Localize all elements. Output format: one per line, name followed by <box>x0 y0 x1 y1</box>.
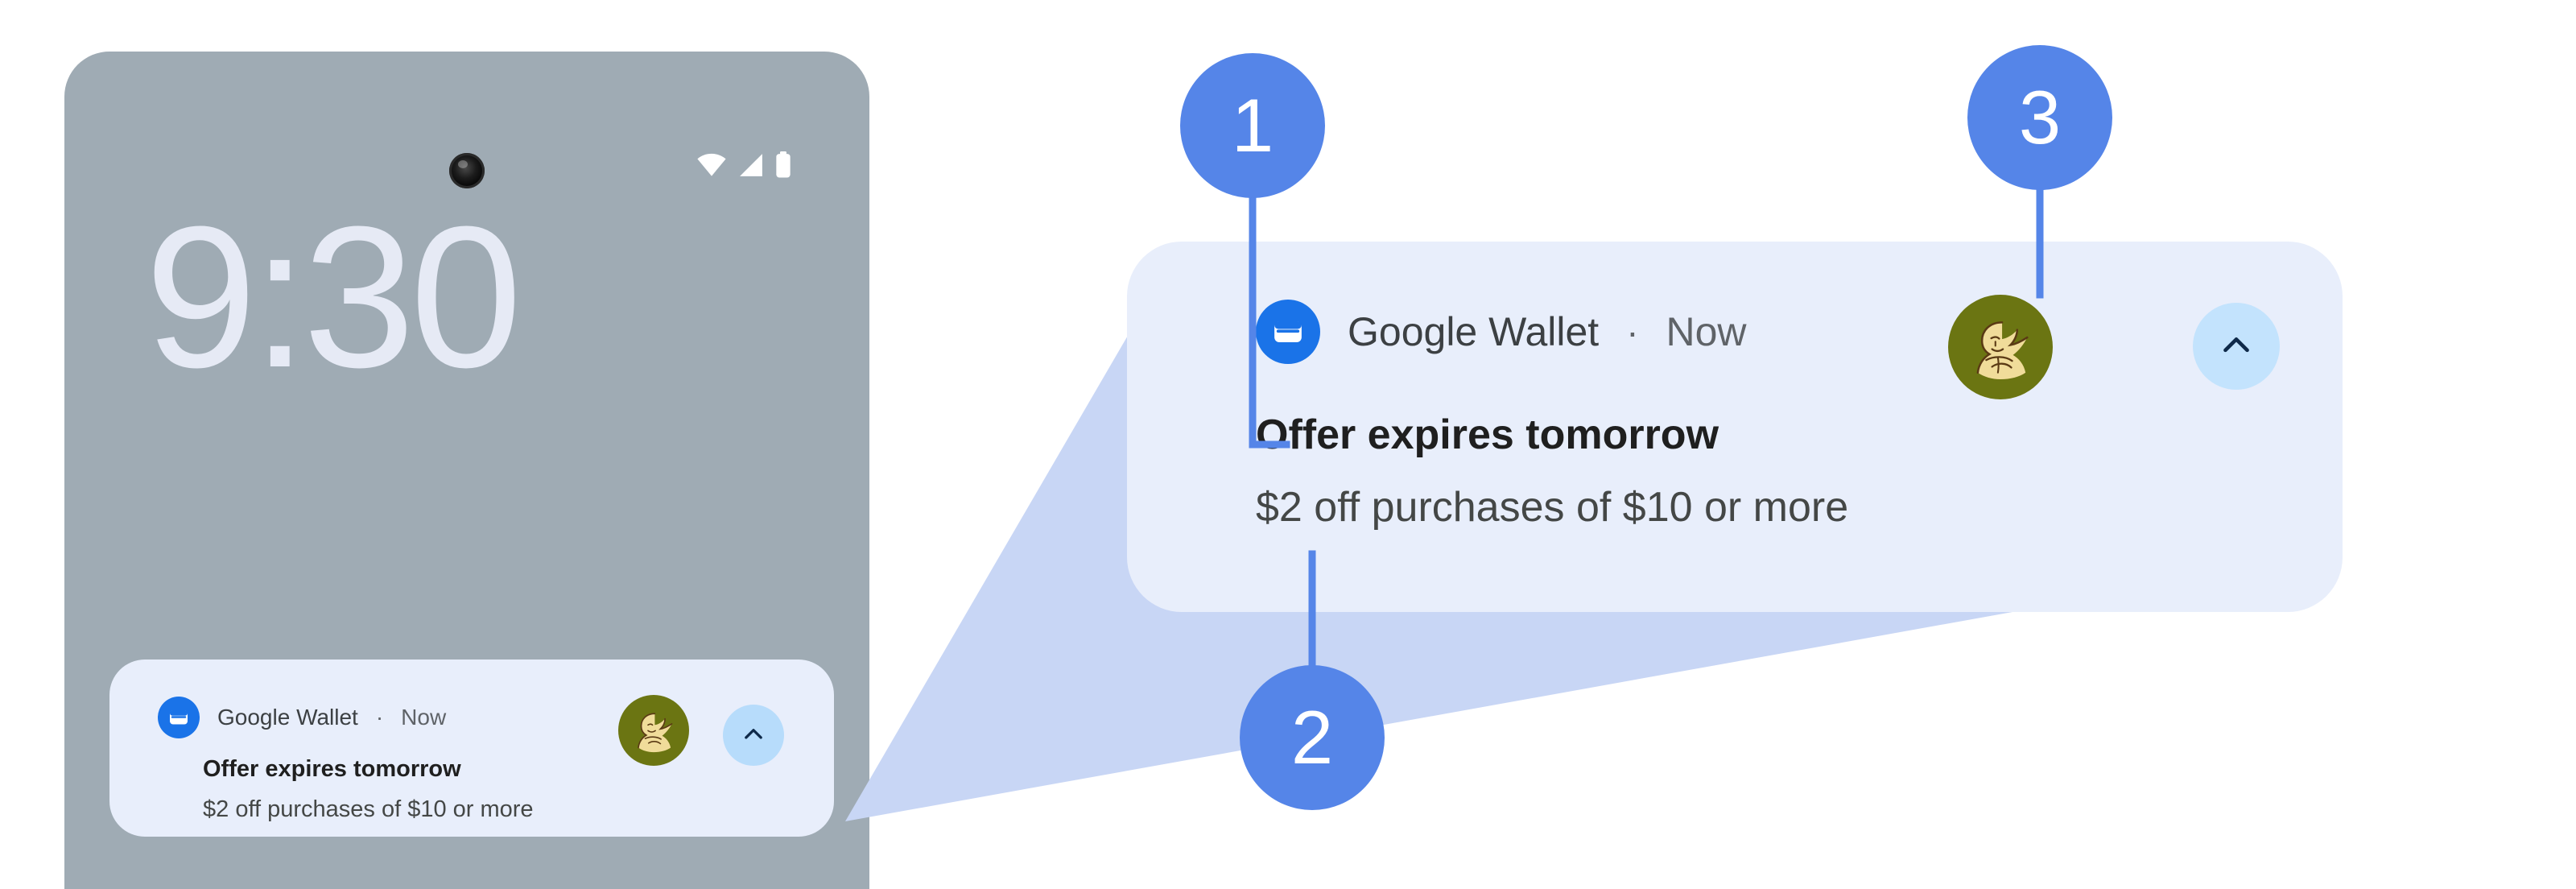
notification-card-magnified[interactable]: Google Wallet · Now Offer expires tomorr… <box>1127 242 2343 612</box>
merchant-avatar <box>1948 295 2053 403</box>
notification-card-small[interactable]: Google Wallet · Now Offer expires tomorr… <box>109 660 834 837</box>
chevron-up-icon <box>2216 325 2256 369</box>
notification-separator: · <box>376 705 383 730</box>
status-bar-icons <box>696 151 792 179</box>
camera-glint <box>458 160 468 168</box>
wifi-icon <box>696 152 728 178</box>
notification-app-name: Google Wallet <box>217 705 358 730</box>
google-wallet-icon <box>1256 300 1320 364</box>
expand-notification-button[interactable] <box>723 705 784 766</box>
callout-marker-1[interactable]: 1 <box>1180 53 1325 198</box>
phone-mockup: 9:30 Google Wallet · Now Offer expires t… <box>64 52 869 889</box>
google-wallet-icon <box>158 697 200 738</box>
callout-marker-2[interactable]: 2 <box>1240 665 1385 810</box>
front-camera-icon <box>449 153 485 188</box>
notification-app-name: Google Wallet <box>1348 308 1599 355</box>
callout-marker-2-label: 2 <box>1291 694 1333 781</box>
merchant-avatar <box>618 695 689 770</box>
battery-icon <box>774 151 792 179</box>
notification-body: $2 off purchases of $10 or more <box>1256 483 1848 531</box>
callout-marker-1-label: 1 <box>1232 82 1274 169</box>
notification-title: Offer expires tomorrow <box>1256 411 1719 459</box>
cellular-signal-icon <box>737 152 765 178</box>
notification-header-small: Google Wallet · Now <box>158 697 446 738</box>
chevron-up-icon <box>740 720 767 751</box>
notification-timestamp: Now <box>401 705 446 730</box>
expand-notification-button[interactable] <box>2193 303 2280 390</box>
callout-marker-3-label: 3 <box>2019 74 2061 161</box>
callout-marker-3[interactable]: 3 <box>1967 45 2112 190</box>
lock-screen-clock: 9:30 <box>145 196 518 398</box>
notification-body: $2 off purchases of $10 or more <box>203 796 534 823</box>
notification-title: Offer expires tomorrow <box>203 756 461 783</box>
notification-separator: · <box>1626 310 1638 354</box>
notification-timestamp: Now <box>1666 308 1747 355</box>
notification-header-large: Google Wallet · Now <box>1256 300 1747 364</box>
